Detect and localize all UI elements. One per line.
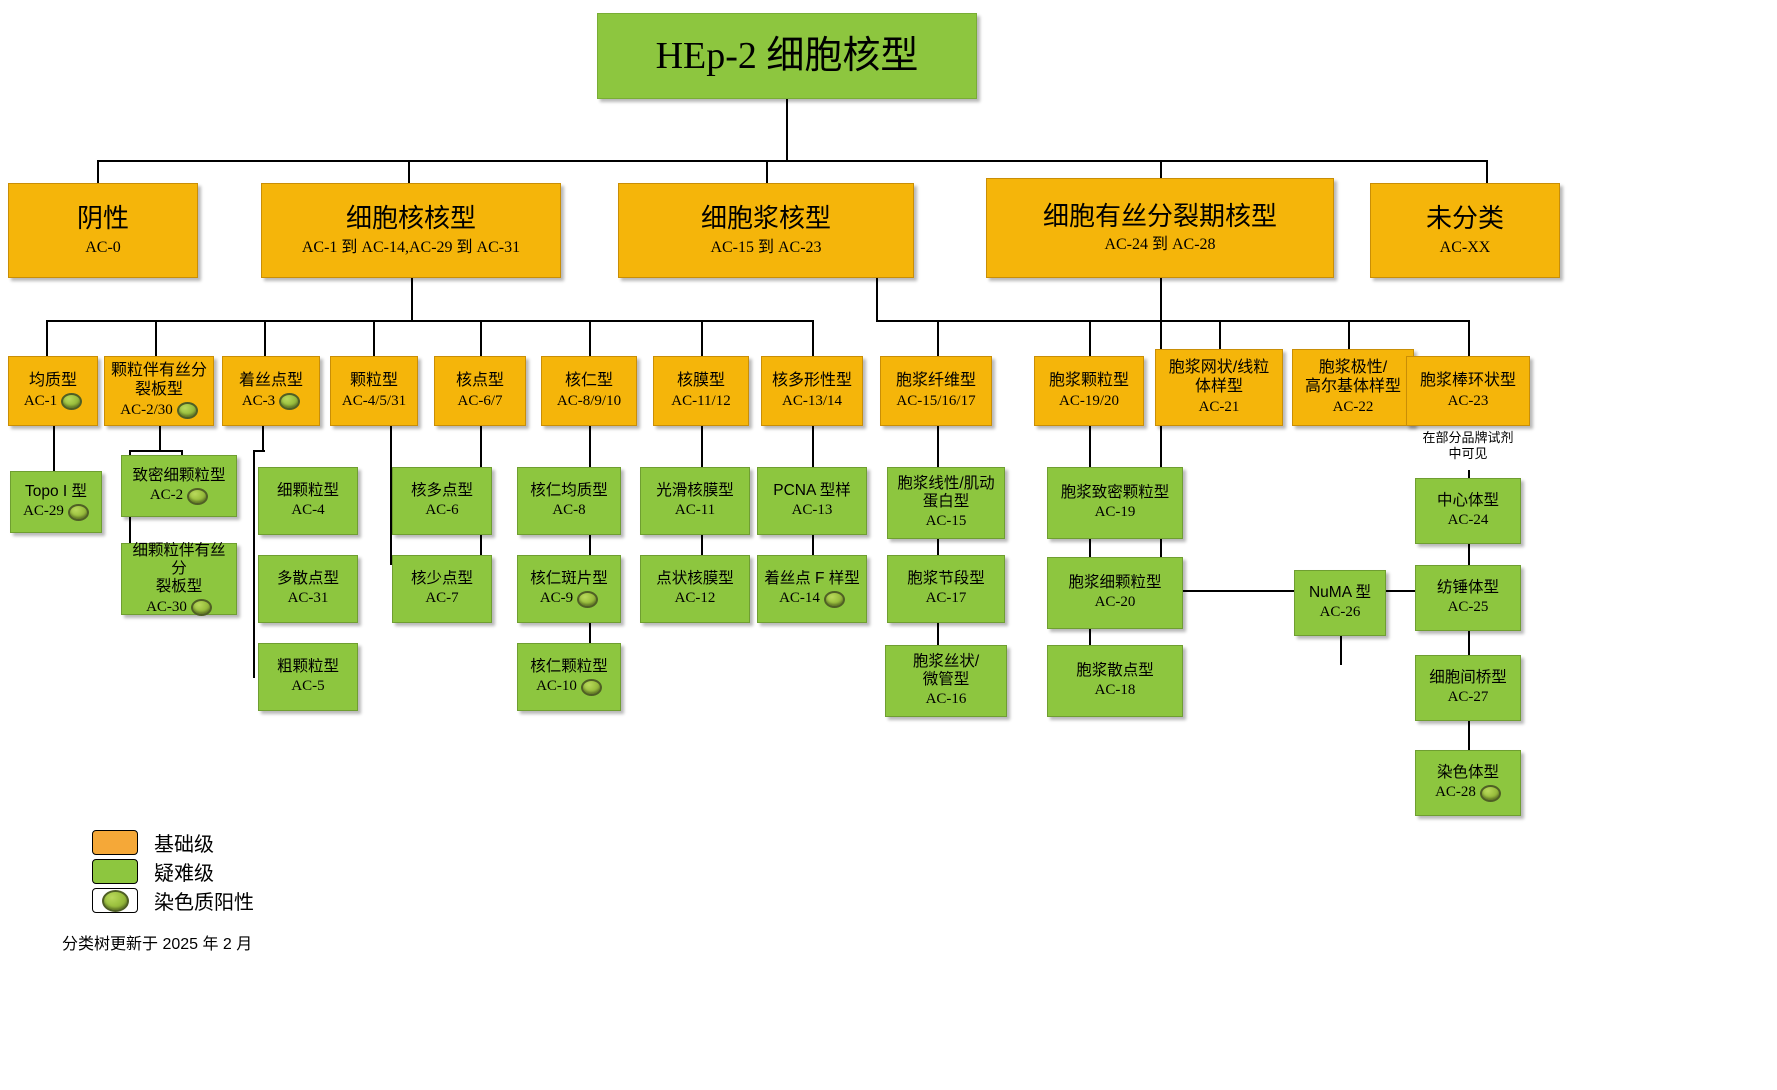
leaf-node-ac7[interactable]: 核少点型 AC-7 bbox=[392, 555, 492, 623]
chromatin-positive-icon bbox=[279, 393, 300, 410]
connector bbox=[701, 320, 703, 356]
leaf-title: 核多点型 bbox=[411, 482, 473, 500]
ac23-availability-note: 在部分品牌试剂 中可见 bbox=[1406, 430, 1530, 463]
leaf-title: PCNA 型样 bbox=[773, 482, 851, 500]
level2-title: 细胞浆核型 bbox=[701, 203, 831, 234]
level3-node-ac2-30[interactable]: 颗粒伴有丝分 裂板型 AC-2/30 bbox=[104, 356, 214, 426]
level3-code: AC-2/30 bbox=[120, 402, 198, 420]
leaf-code: AC-25 bbox=[1448, 599, 1489, 617]
level3-node-ac22[interactable]: 胞浆极性/ 高尔基体样型 AC-22 bbox=[1292, 349, 1414, 426]
connector bbox=[480, 426, 482, 450]
connector bbox=[701, 426, 703, 450]
connector bbox=[876, 278, 878, 320]
level3-code: AC-11/12 bbox=[671, 393, 730, 411]
level3-node-ac11-12[interactable]: 核膜型 AC-11/12 bbox=[653, 356, 749, 426]
connector bbox=[876, 320, 1469, 322]
leaf-node-ac16[interactable]: 胞浆丝状/ 微管型 AC-16 bbox=[885, 645, 1007, 717]
leaf-title: 核少点型 bbox=[411, 570, 473, 588]
leaf-node-ac24[interactable]: 中心体型 AC-24 bbox=[1415, 478, 1521, 544]
chromatin-positive-icon bbox=[581, 679, 602, 696]
chromatin-positive-icon bbox=[824, 591, 845, 608]
leaf-node-ac12[interactable]: 点状核膜型 AC-12 bbox=[640, 555, 750, 623]
root-node-hep2-cell-pattern[interactable]: HEp-2 细胞核型 bbox=[597, 13, 977, 99]
level2-node-mitotic[interactable]: 细胞有丝分裂期核型 AC-24 到 AC-28 bbox=[986, 178, 1334, 278]
level3-code: AC-23 bbox=[1448, 393, 1489, 411]
level3-code: AC-22 bbox=[1333, 399, 1374, 417]
level3-title: 胞浆纤维型 bbox=[896, 372, 976, 391]
leaf-title: Topo I 型 bbox=[25, 483, 87, 501]
leaf-node-ac4[interactable]: 细颗粒型 AC-4 bbox=[258, 467, 358, 535]
level3-code: AC-15/16/17 bbox=[896, 393, 975, 411]
leaf-node-ac19[interactable]: 胞浆致密颗粒型 AC-19 bbox=[1047, 467, 1183, 539]
leaf-code: AC-30 bbox=[146, 599, 212, 617]
leaf-node-ac10[interactable]: 核仁颗粒型 AC-10 bbox=[517, 643, 621, 711]
level2-node-unclassified[interactable]: 未分类 AC-XX bbox=[1370, 183, 1560, 278]
leaf-code: AC-10 bbox=[536, 678, 602, 696]
level3-node-ac3[interactable]: 着丝点型 AC-3 bbox=[222, 356, 320, 426]
leaf-code: AC-24 bbox=[1448, 512, 1489, 530]
leaf-code: AC-11 bbox=[675, 502, 715, 520]
level3-title: 胞浆极性/ 高尔基体样型 bbox=[1305, 359, 1401, 397]
level3-title: 核仁型 bbox=[565, 372, 613, 391]
connector bbox=[159, 426, 161, 450]
connector bbox=[1089, 426, 1091, 450]
leaf-title: 粗颗粒型 bbox=[277, 658, 339, 676]
leaf-node-ac2[interactable]: 致密细颗粒型 AC-2 bbox=[121, 455, 237, 517]
hard-color-swatch bbox=[92, 859, 138, 884]
leaf-node-ac13[interactable]: PCNA 型样 AC-13 bbox=[757, 467, 867, 535]
connector bbox=[155, 320, 157, 356]
level2-title: 细胞有丝分裂期核型 bbox=[1043, 201, 1277, 232]
connector bbox=[589, 320, 591, 356]
level3-code: AC-6/7 bbox=[458, 393, 503, 411]
leaf-node-ac14[interactable]: 着丝点 F 样型 AC-14 bbox=[757, 555, 867, 623]
leaf-code: AC-28 bbox=[1435, 784, 1501, 802]
connector bbox=[253, 450, 265, 452]
level3-title: 核膜型 bbox=[677, 372, 725, 391]
leaf-title: 细颗粒伴有丝分 裂板型 bbox=[125, 542, 233, 597]
leaf-code: AC-8 bbox=[552, 502, 585, 520]
leaf-node-ac31[interactable]: 多散点型 AC-31 bbox=[258, 555, 358, 623]
connector bbox=[1468, 320, 1470, 356]
level3-code: AC-4/5/31 bbox=[342, 393, 406, 411]
leaf-title: 细胞间桥型 bbox=[1429, 669, 1507, 687]
chromatin-positive-icon bbox=[187, 488, 208, 505]
connector bbox=[253, 450, 255, 678]
leaf-code: AC-20 bbox=[1095, 594, 1136, 612]
level2-title: 细胞核核型 bbox=[346, 203, 476, 234]
legend: 基础级 疑难级 染色质阳性 bbox=[92, 828, 254, 915]
level3-code: AC-21 bbox=[1199, 399, 1240, 417]
legend-label: 基础级 bbox=[154, 828, 214, 857]
connector bbox=[53, 452, 55, 471]
leaf-node-ac26[interactable]: NuMA 型 AC-26 bbox=[1294, 570, 1386, 636]
leaf-code: AC-2 bbox=[150, 487, 208, 505]
level3-code: AC-19/20 bbox=[1059, 393, 1119, 411]
level3-title: 颗粒型 bbox=[350, 372, 398, 391]
leaf-title: 核仁斑片型 bbox=[530, 570, 608, 588]
level3-node-ac8-9-10[interactable]: 核仁型 AC-8/9/10 bbox=[541, 356, 637, 426]
leaf-title: 胞浆散点型 bbox=[1076, 662, 1154, 680]
chromatin-positive-icon bbox=[577, 591, 598, 608]
level3-node-ac19-20[interactable]: 胞浆颗粒型 AC-19/20 bbox=[1034, 356, 1144, 426]
connector bbox=[411, 278, 413, 320]
leaf-title: 多散点型 bbox=[277, 570, 339, 588]
connector bbox=[53, 426, 55, 452]
leaf-node-ac30[interactable]: 细颗粒伴有丝分 裂板型 AC-30 bbox=[121, 543, 237, 615]
leaf-code: AC-9 bbox=[540, 590, 598, 608]
leaf-title: 细颗粒型 bbox=[277, 482, 339, 500]
leaf-node-ac27[interactable]: 细胞间桥型 AC-27 bbox=[1415, 655, 1521, 721]
level2-node-nuclear[interactable]: 细胞核核型 AC-1 到 AC-14,AC-29 到 AC-31 bbox=[261, 183, 561, 278]
leaf-node-ac15[interactable]: 胞浆线性/肌动 蛋白型 AC-15 bbox=[887, 467, 1005, 539]
connector bbox=[129, 450, 181, 452]
level2-code: AC-15 到 AC-23 bbox=[710, 239, 821, 258]
leaf-code: AC-4 bbox=[291, 502, 324, 520]
level2-code: AC-XX bbox=[1440, 239, 1491, 258]
chromatin-positive-icon bbox=[1480, 785, 1501, 802]
level2-code: AC-24 到 AC-28 bbox=[1104, 236, 1215, 255]
connector bbox=[812, 426, 814, 450]
connector bbox=[97, 160, 1487, 162]
base-color-swatch bbox=[92, 830, 138, 855]
connector bbox=[97, 160, 99, 183]
leaf-node-ac9[interactable]: 核仁斑片型 AC-9 bbox=[517, 555, 621, 623]
leaf-title: 核仁颗粒型 bbox=[530, 658, 608, 676]
leaf-node-ac20[interactable]: 胞浆细颗粒型 AC-20 bbox=[1047, 557, 1183, 629]
level2-code: AC-1 到 AC-14,AC-29 到 AC-31 bbox=[302, 239, 520, 258]
legend-item-basic: 基础级 bbox=[92, 828, 254, 857]
leaf-code: AC-16 bbox=[926, 691, 967, 709]
level3-title: 胞浆网状/线粒 体样型 bbox=[1169, 359, 1269, 397]
level3-title: 颗粒伴有丝分 裂板型 bbox=[111, 362, 207, 400]
level3-title: 胞浆颗粒型 bbox=[1049, 372, 1129, 391]
chromatin-positive-icon bbox=[102, 890, 129, 912]
leaf-title: 胞浆线性/肌动 蛋白型 bbox=[897, 475, 994, 512]
leaf-title: 胞浆节段型 bbox=[907, 570, 985, 588]
level2-title: 未分类 bbox=[1426, 203, 1504, 234]
level2-node-cytoplasmic[interactable]: 细胞浆核型 AC-15 到 AC-23 bbox=[618, 183, 914, 278]
connector bbox=[1486, 160, 1488, 183]
leaf-title: 点状核膜型 bbox=[656, 570, 734, 588]
leaf-code: AC-5 bbox=[291, 678, 324, 696]
legend-item-chromatin: 染色质阳性 bbox=[92, 886, 254, 915]
leaf-code: AC-19 bbox=[1095, 504, 1136, 522]
level2-node-negative[interactable]: 阴性 AC-0 bbox=[8, 183, 198, 278]
level3-title: 核点型 bbox=[456, 372, 504, 391]
leaf-code: AC-17 bbox=[926, 590, 967, 608]
classification-tree-diagram: HEp-2 细胞核型 阴性 AC-0 细胞核核型 AC-1 到 AC-14,AC… bbox=[0, 0, 1777, 1090]
leaf-title: 纺锤体型 bbox=[1437, 579, 1499, 597]
chromatin-marker-swatch bbox=[92, 888, 138, 913]
leaf-code: AC-6 bbox=[425, 502, 458, 520]
leaf-node-ac6[interactable]: 核多点型 AC-6 bbox=[392, 467, 492, 535]
level2-code: AC-0 bbox=[85, 239, 121, 258]
connector bbox=[262, 426, 264, 450]
connector bbox=[1089, 320, 1091, 356]
level3-node-ac6-7[interactable]: 核点型 AC-6/7 bbox=[434, 356, 526, 426]
leaf-code: AC-26 bbox=[1320, 604, 1361, 622]
level3-node-ac23[interactable]: 胞浆棒环状型 AC-23 bbox=[1406, 356, 1530, 426]
leaf-code: AC-13 bbox=[792, 502, 833, 520]
chromatin-positive-icon bbox=[68, 504, 89, 521]
connector bbox=[1160, 278, 1162, 590]
legend-label: 疑难级 bbox=[154, 857, 214, 886]
leaf-title: 染色体型 bbox=[1437, 764, 1499, 782]
level3-node-ac13-14[interactable]: 核多形性型 AC-13/14 bbox=[761, 356, 863, 426]
level3-node-ac21[interactable]: 胞浆网状/线粒 体样型 AC-21 bbox=[1155, 349, 1283, 426]
level3-title: 核多形性型 bbox=[772, 372, 852, 391]
level3-title: 着丝点型 bbox=[239, 372, 303, 391]
connector bbox=[937, 426, 939, 450]
leaf-code: AC-15 bbox=[926, 513, 967, 531]
leaf-node-ac17[interactable]: 胞浆节段型 AC-17 bbox=[887, 555, 1005, 623]
level3-code: AC-8/9/10 bbox=[557, 393, 621, 411]
leaf-node-ac28[interactable]: 染色体型 AC-28 bbox=[1415, 750, 1521, 816]
level3-node-ac15-16-17[interactable]: 胞浆纤维型 AC-15/16/17 bbox=[880, 356, 992, 426]
connector bbox=[408, 160, 410, 183]
leaf-title: 核仁均质型 bbox=[530, 482, 608, 500]
connector bbox=[812, 320, 814, 356]
level3-title: 均质型 bbox=[29, 372, 77, 391]
footer-update-note: 分类树更新于 2025 年 2 月 bbox=[62, 930, 252, 954]
level3-code: AC-13/14 bbox=[782, 393, 842, 411]
leaf-code: AC-14 bbox=[779, 590, 845, 608]
leaf-code: AC-27 bbox=[1448, 689, 1489, 707]
leaf-title: 着丝点 F 样型 bbox=[764, 570, 860, 588]
leaf-code: AC-7 bbox=[425, 590, 458, 608]
level3-code: AC-1 bbox=[24, 393, 82, 411]
level3-node-ac1[interactable]: 均质型 AC-1 bbox=[8, 356, 98, 426]
leaf-node-ac29[interactable]: Topo I 型 AC-29 bbox=[10, 471, 102, 533]
chromatin-positive-icon bbox=[191, 599, 212, 616]
chromatin-positive-icon bbox=[61, 393, 82, 410]
connector bbox=[480, 320, 482, 356]
connector bbox=[937, 320, 939, 356]
connector bbox=[786, 99, 788, 160]
leaf-title: 胞浆细颗粒型 bbox=[1068, 574, 1161, 592]
legend-label: 染色质阳性 bbox=[154, 886, 254, 915]
leaf-node-ac11[interactable]: 光滑核膜型 AC-11 bbox=[640, 467, 750, 535]
leaf-node-ac25[interactable]: 纺锤体型 AC-25 bbox=[1415, 565, 1521, 631]
leaf-title: 致密细颗粒型 bbox=[132, 467, 225, 485]
level3-code: AC-3 bbox=[242, 393, 300, 411]
leaf-code: AC-29 bbox=[23, 503, 89, 521]
connector bbox=[264, 320, 266, 356]
leaf-code: AC-12 bbox=[675, 590, 716, 608]
root-title: HEp-2 细胞核型 bbox=[656, 34, 919, 79]
leaf-title: 胞浆致密颗粒型 bbox=[1061, 484, 1170, 502]
connector bbox=[589, 426, 591, 450]
leaf-node-ac18[interactable]: 胞浆散点型 AC-18 bbox=[1047, 645, 1183, 717]
leaf-code: AC-31 bbox=[288, 590, 329, 608]
connector bbox=[390, 426, 392, 450]
legend-item-difficult: 疑难级 bbox=[92, 857, 254, 886]
connector bbox=[46, 320, 48, 356]
leaf-title: 光滑核膜型 bbox=[656, 482, 734, 500]
level3-title: 胞浆棒环状型 bbox=[1420, 372, 1516, 391]
leaf-node-ac8[interactable]: 核仁均质型 AC-8 bbox=[517, 467, 621, 535]
chromatin-positive-icon bbox=[177, 402, 198, 419]
connector bbox=[46, 320, 813, 322]
leaf-code: AC-18 bbox=[1095, 682, 1136, 700]
connector bbox=[766, 160, 768, 183]
level2-title: 阴性 bbox=[77, 203, 129, 234]
leaf-title: 胞浆丝状/ 微管型 bbox=[913, 653, 979, 690]
connector bbox=[373, 320, 375, 356]
leaf-title: 中心体型 bbox=[1437, 492, 1499, 510]
leaf-title: NuMA 型 bbox=[1309, 584, 1371, 602]
level3-node-ac4-5-31[interactable]: 颗粒型 AC-4/5/31 bbox=[330, 356, 418, 426]
leaf-node-ac5[interactable]: 粗颗粒型 AC-5 bbox=[258, 643, 358, 711]
